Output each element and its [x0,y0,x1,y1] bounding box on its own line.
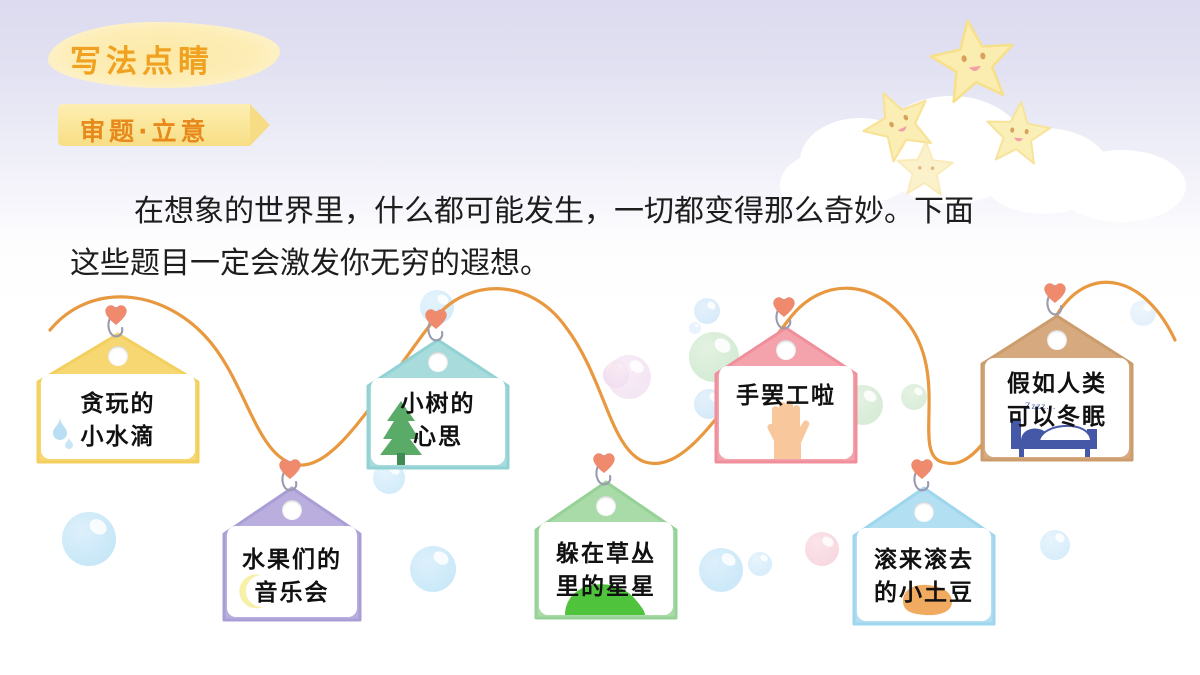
heart-marker-icon [908,456,936,482]
page-title: 写法点睛 [70,36,214,81]
section-badge-label: 审题·立意 [80,112,210,148]
heart-marker-icon [422,306,450,332]
paragraph-line-1: 在想象的世界里，什么都可能发生，一切都变得那么奇妙。下面 [134,195,974,228]
card-item[interactable]: 躲在草丛 里的星星 [530,472,682,624]
smiling-star-icon [925,12,1022,107]
card-inner-panel: 手罢工啦 [719,366,853,459]
card-inner-panel: 水果们的 音乐会 [227,526,357,617]
card-item[interactable]: 滚来滚去 的小土豆 [848,478,1000,630]
bubble-decoration [410,546,456,592]
card-item[interactable]: Zzzz... 假如人类 可以冬眠 [976,306,1138,466]
heart-marker-icon [770,294,798,320]
card-inner-panel: 贪玩的 小水滴 [41,374,195,459]
heart-marker-icon [590,450,618,476]
heart-marker-icon [102,302,130,328]
card-label: 小树的 心思 [371,388,505,454]
smiling-star-icon [982,97,1054,168]
card-label: 假如人类 可以冬眠 [985,368,1129,434]
card-inner-panel: 滚来滚去 的小土豆 [857,528,991,621]
card-inner-panel: 躲在草丛 里的星星 [539,522,673,615]
card-item[interactable]: 贪玩的 小水滴 [32,326,204,468]
card-label: 水果们的 音乐会 [227,544,357,610]
heart-marker-icon [1041,280,1069,306]
card-item[interactable]: 小树的 心思 [362,332,514,474]
card-inner-panel: Zzzz... 假如人类 可以冬眠 [985,358,1129,457]
card-inner-panel: 小树的 心思 [371,378,505,465]
card-item[interactable]: 水果们的 音乐会 [218,478,366,626]
card-item[interactable]: 手罢工啦 [710,318,862,468]
heart-marker-icon [276,456,304,482]
card-label: 躲在草丛 里的星星 [539,538,673,604]
card-label: 滚来滚去 的小土豆 [857,544,991,610]
bubble-decoration [699,548,743,592]
card-label: 贪玩的 小水滴 [41,388,195,454]
card-label: 手罢工啦 [719,380,853,413]
slide-canvas: 写法点睛 审题·立意 在想象的世界里，什么都可能发生，一切都变得那么奇妙。下面 … [0,0,1200,675]
bubble-decoration [748,552,772,576]
